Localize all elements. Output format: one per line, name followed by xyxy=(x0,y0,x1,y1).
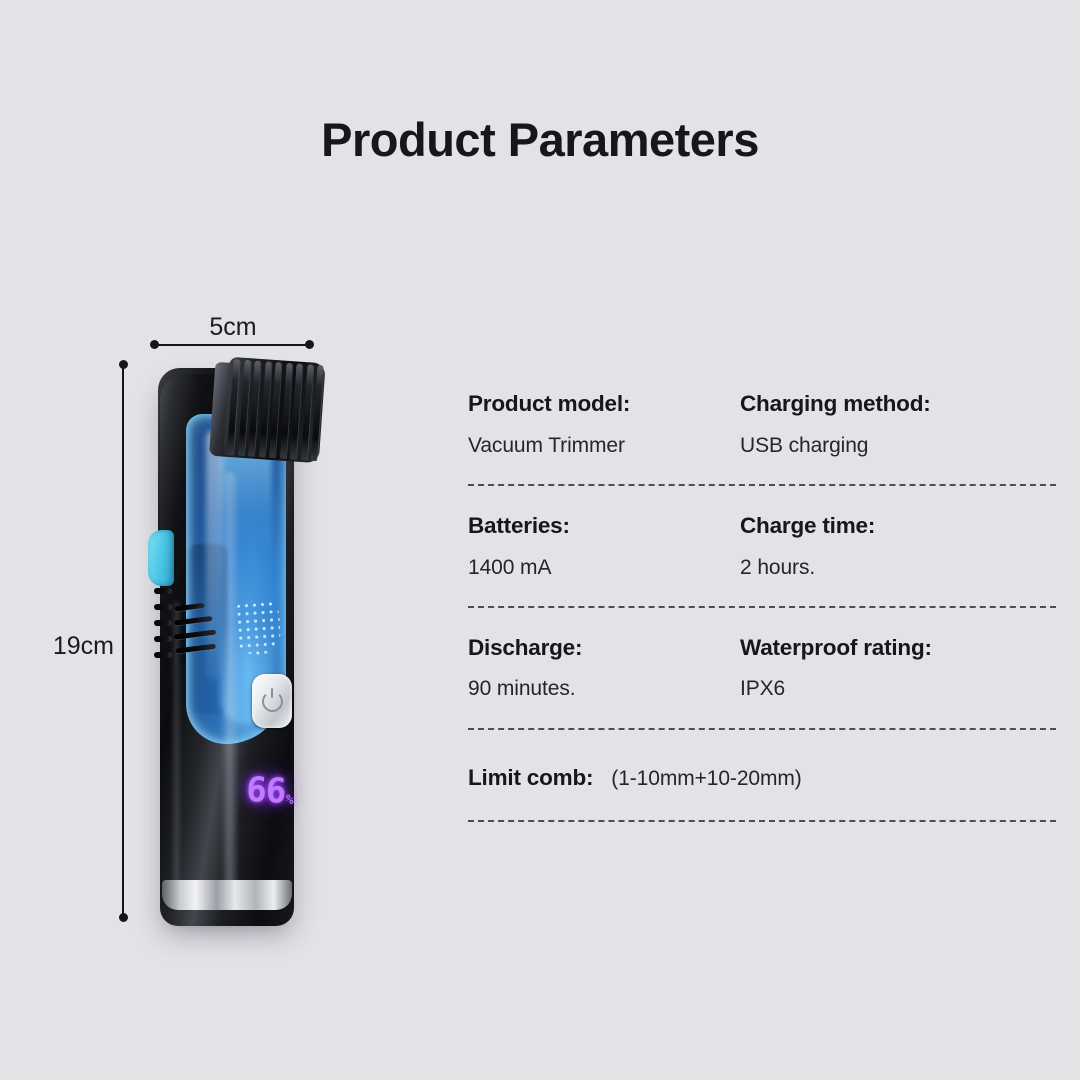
row-divider xyxy=(468,606,1056,608)
power-icon xyxy=(262,691,283,712)
spec-label-limit-comb: Limit comb: xyxy=(468,766,593,791)
led-battery-value: 66 xyxy=(245,773,286,809)
spec-label: Waterproof rating: xyxy=(740,636,1012,661)
trimmer-led-battery-display: 66 % xyxy=(245,773,301,822)
row-divider xyxy=(468,820,1056,822)
comb-tooth xyxy=(269,362,282,458)
spec-value-limit-comb: (1-10mm+10-20mm) xyxy=(611,767,801,790)
body-gloss-highlight xyxy=(222,472,238,892)
dimension-width-endpoint-left-icon xyxy=(150,340,159,349)
air-vent-slot xyxy=(174,616,212,626)
dimension-width-label: 5cm xyxy=(150,313,316,342)
trimmer-air-vents xyxy=(171,602,222,667)
grip-rib xyxy=(154,652,172,658)
page-title: Product Parameters xyxy=(0,112,1080,167)
comb-tooth xyxy=(290,363,303,459)
spec-label: Charge time: xyxy=(740,514,1012,539)
spec-value: 2 hours. xyxy=(740,556,1012,579)
product-image-trimmer: 66 % xyxy=(148,352,348,934)
row-divider xyxy=(468,728,1056,730)
spec-value: Vacuum Trimmer xyxy=(468,434,740,457)
grip-rib xyxy=(154,588,172,594)
spec-label: Charging method: xyxy=(740,392,1012,417)
trimmer-grip-ribs xyxy=(154,588,172,676)
table-row: Discharge: 90 minutes. Waterproof rating… xyxy=(430,636,1020,730)
air-vent-slot xyxy=(176,644,216,654)
table-row: Product model: Vacuum Trimmer Charging m… xyxy=(430,392,1020,486)
grip-rib xyxy=(154,620,172,626)
trimmer-power-button xyxy=(252,674,292,728)
spec-cell-waterproof-rating: Waterproof rating: IPX6 xyxy=(740,636,1012,701)
spec-cell-discharge: Discharge: 90 minutes. xyxy=(468,636,740,701)
led-battery-unit: % xyxy=(285,793,294,808)
trimmer-release-button xyxy=(148,530,174,586)
spec-value: USB charging xyxy=(740,434,1012,457)
trimmer-comb-head xyxy=(222,357,325,471)
dimension-width-line xyxy=(154,344,310,346)
trimmer-mesh-filter xyxy=(232,597,282,656)
spec-cell-charging-method: Charging method: USB charging xyxy=(740,392,1012,457)
grip-rib xyxy=(154,636,172,642)
table-row: Batteries: 1400 mA Charge time: 2 hours. xyxy=(430,514,1020,608)
dimension-height-line xyxy=(122,366,124,918)
spec-value: IPX6 xyxy=(740,677,1012,700)
spec-cell-batteries: Batteries: 1400 mA xyxy=(468,514,740,579)
air-vent-slot xyxy=(174,630,216,640)
comb-tooth xyxy=(248,361,261,457)
spec-label: Product model: xyxy=(468,392,740,417)
dimension-height-annotation: 19cm xyxy=(48,360,138,930)
spec-value: 90 minutes. xyxy=(468,677,740,700)
dimension-width-endpoint-right-icon xyxy=(305,340,314,349)
spec-label: Batteries: xyxy=(468,514,740,539)
spec-cell-product-model: Product model: Vacuum Trimmer xyxy=(468,392,740,457)
grip-rib xyxy=(154,604,172,610)
dimension-width-annotation: 5cm xyxy=(150,313,316,353)
row-divider xyxy=(468,484,1056,486)
spec-value: 1400 mA xyxy=(468,556,740,579)
comb-teeth-group xyxy=(227,359,323,461)
dimension-height-endpoint-bottom-icon xyxy=(119,913,128,922)
spec-label: Discharge: xyxy=(468,636,740,661)
dimension-height-label: 19cm xyxy=(4,632,114,661)
dimension-height-endpoint-top-icon xyxy=(119,360,128,369)
table-row: Limit comb: (1-10mm+10-20mm) xyxy=(430,766,1020,791)
product-parameters-table: Product model: Vacuum Trimmer Charging m… xyxy=(430,392,1020,822)
trimmer-chrome-base-ring xyxy=(162,880,292,910)
spec-cell-charge-time: Charge time: 2 hours. xyxy=(740,514,1012,579)
